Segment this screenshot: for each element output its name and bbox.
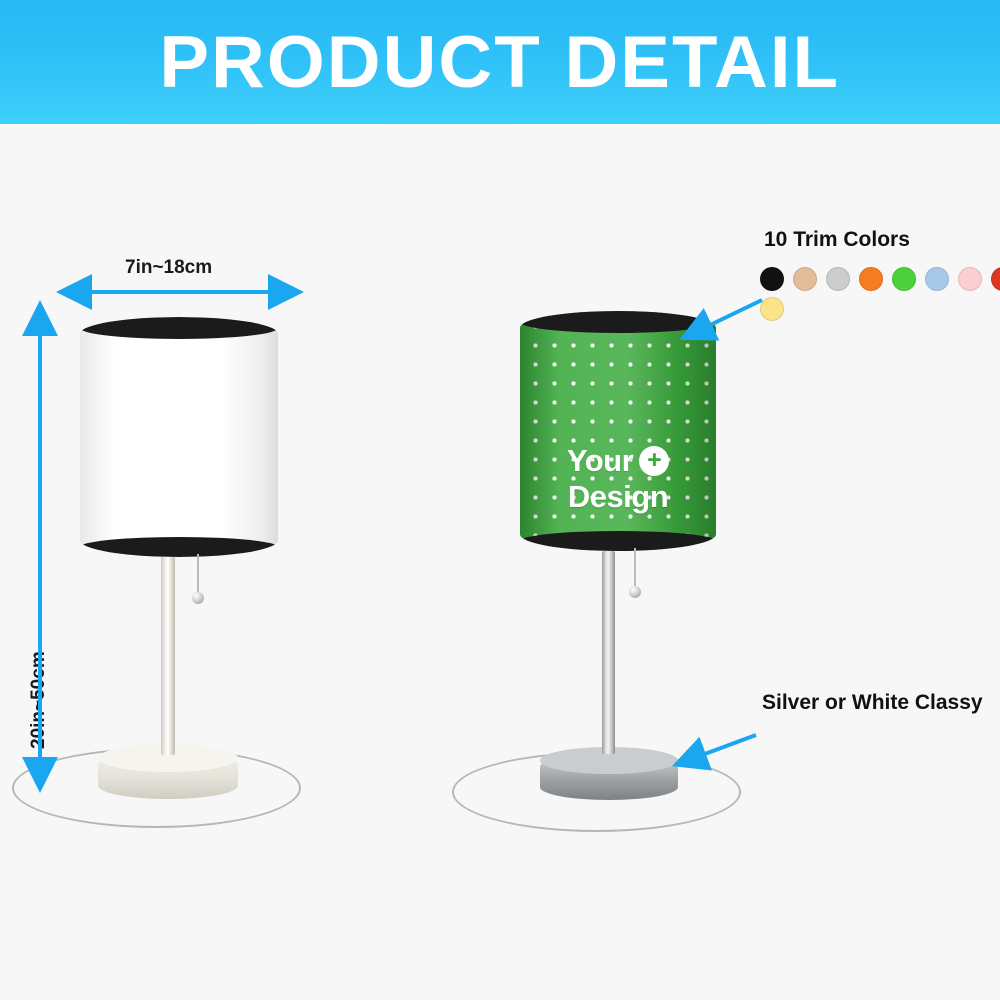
swatch-red[interactable]	[991, 267, 1000, 291]
base-finish-arrow	[694, 729, 764, 763]
trim-colors-title: 10 Trim Colors	[764, 228, 910, 252]
lamp-height-arrow	[32, 324, 48, 769]
swatch-tan[interactable]	[793, 267, 817, 291]
green-lamp-chain-knob	[629, 586, 641, 598]
design-text-line1: Your	[567, 443, 633, 479]
green-lamp-trim-top	[520, 311, 716, 333]
white-lamp-pole	[161, 555, 175, 755]
header-banner: PRODUCT DETAIL	[0, 0, 1000, 124]
swatch-light-blue[interactable]	[925, 267, 949, 291]
green-lamp-shade: Your + Design	[520, 311, 716, 551]
base-finish-label: Silver or White Classy	[762, 691, 983, 715]
green-lamp-pull-chain	[634, 548, 636, 590]
shade-gloss	[520, 311, 716, 551]
shade-design-placeholder: Your + Design	[520, 443, 716, 515]
page-title: PRODUCT DETAIL	[160, 26, 841, 99]
white-lamp-trim-bottom	[80, 537, 278, 557]
green-lamp-trim-bottom	[520, 531, 716, 551]
white-lamp-chain-knob	[192, 592, 204, 604]
product-stage: 7in~18cm 20in~50cm	[0, 124, 1000, 1000]
shade-width-label: 7in~18cm	[125, 257, 212, 279]
swatch-pink[interactable]	[958, 267, 982, 291]
plus-icon: +	[639, 446, 669, 476]
swatch-green[interactable]	[892, 267, 916, 291]
white-lamp-pull-chain	[197, 554, 199, 596]
shade-width-arrow	[80, 284, 280, 300]
trim-colors-arrow	[700, 294, 770, 334]
swatch-orange[interactable]	[859, 267, 883, 291]
white-lamp-shade	[80, 317, 278, 557]
design-text-line2: Design	[568, 479, 668, 515]
swatch-light-gray[interactable]	[826, 267, 850, 291]
white-lamp-trim-top	[80, 317, 278, 339]
green-lamp-pole	[602, 551, 615, 754]
swatch-black[interactable]	[760, 267, 784, 291]
trim-color-swatches	[760, 267, 1000, 321]
